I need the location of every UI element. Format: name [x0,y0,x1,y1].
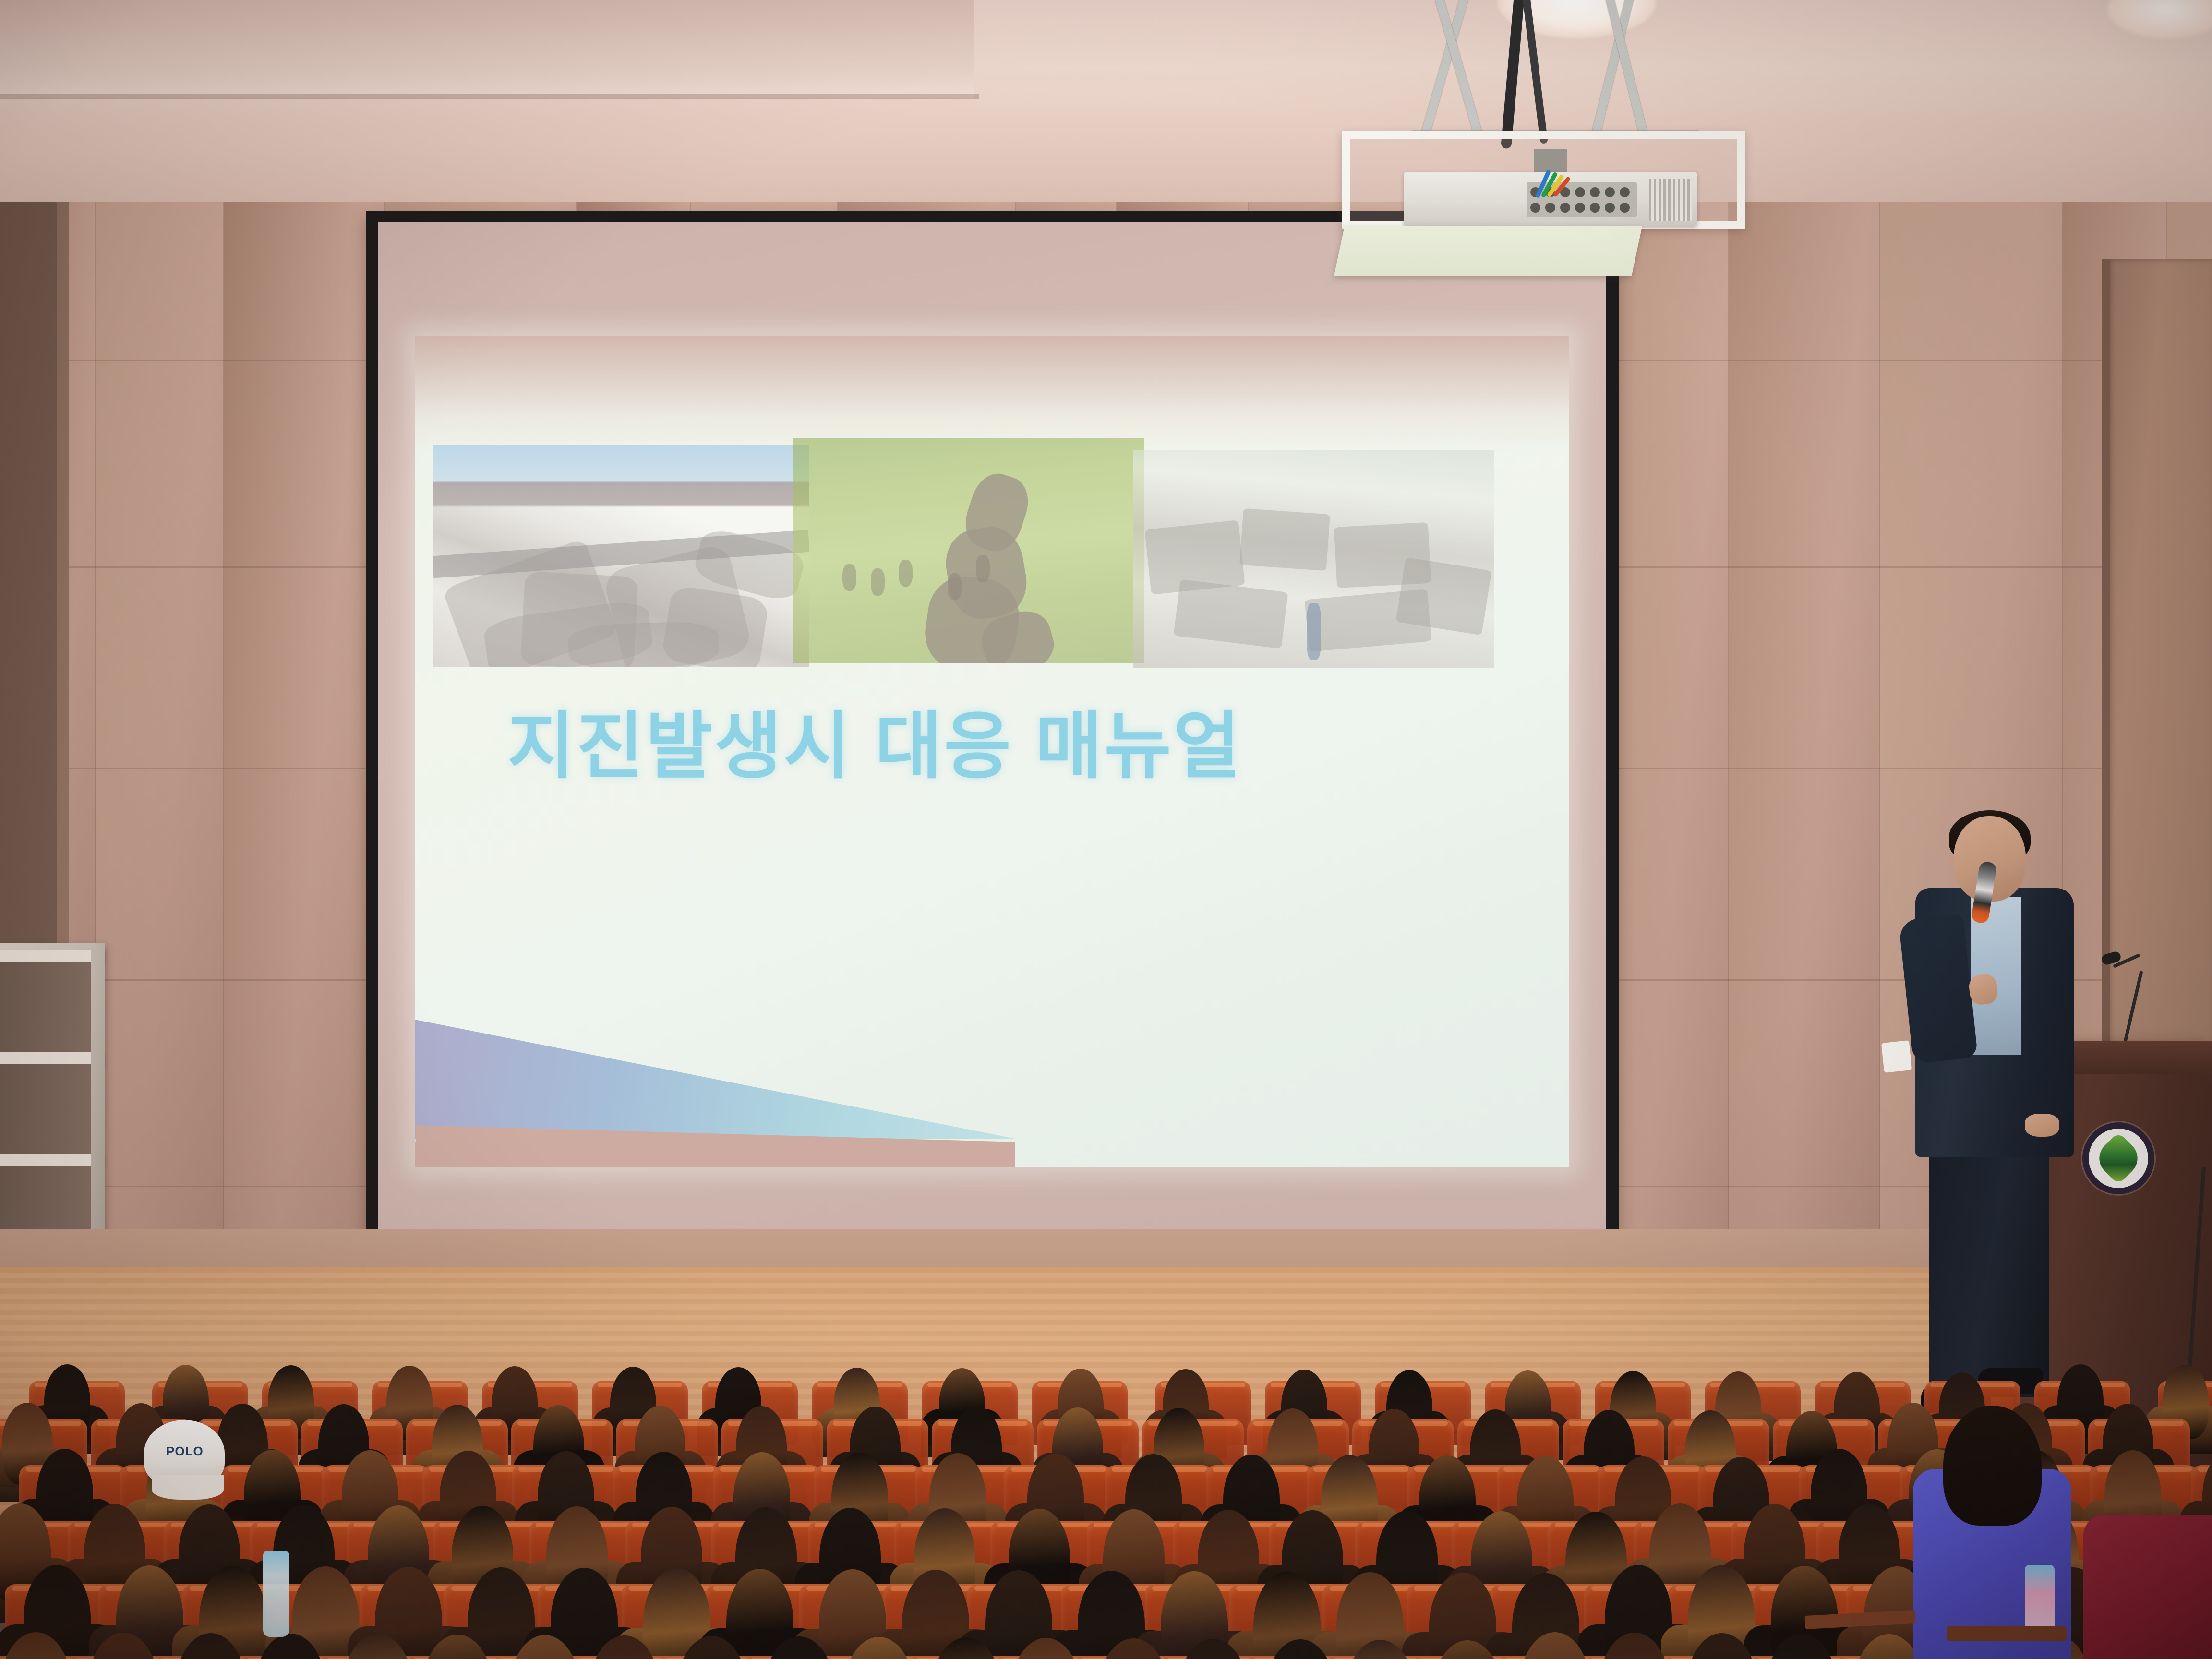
cap-brim [152,1475,224,1500]
shelf-plank-2 [0,1052,105,1064]
blue-jacket-head [1943,1406,2042,1526]
debris-1 [1240,508,1330,571]
slide-photo-band [433,448,1494,669]
photo-collapsed-buildings-rubble [433,445,809,667]
wall-switch-plate [1881,1040,1912,1073]
projector-port-7 [1530,203,1540,213]
debris-3 [1174,579,1288,649]
deco-triangle [415,984,1015,1145]
ceiling-edge-line [0,94,979,99]
projector-port-11 [1590,203,1600,213]
livestock-3 [948,573,962,600]
lecture-hall-photo: 지진발생시 대응 매뉴얼 [0,0,2212,1659]
projector-port-6 [1620,187,1630,197]
projector-port-12 [1605,203,1615,213]
red-top-attendee [2083,1515,2212,1659]
screen-surface: 지진발생시 대응 매뉴얼 [378,222,1606,1261]
projector-shroud-panel [1334,226,1642,276]
person-in-photo [1307,603,1321,660]
speaker-hand-on-lectern [2025,1114,2059,1137]
wall-panel [224,202,385,1387]
seated-audience: POLO [0,1325,2212,1659]
projector-port-10 [1575,203,1585,213]
livestock-4 [976,555,990,582]
slide-diagonal-decoration [415,984,1015,1167]
livestock-1 [871,568,885,595]
projector-port-3 [1575,187,1585,197]
university-emblem [2082,1122,2154,1194]
wall-panel [96,202,224,1387]
livestock-0 [842,564,856,591]
emblem-leaf-icon [2092,1132,2145,1185]
shelf-gap-2 [0,1064,105,1154]
speaker-hand [1968,973,1999,1006]
water-bottle [263,1551,289,1637]
shelf-plank-1 [0,950,105,962]
projection-falloff [415,336,1570,452]
projector-port-4 [1590,187,1600,197]
projected-slide: 지진발생시 대응 매뉴얼 [415,336,1570,1167]
photo-damaged-village-debris [1133,450,1494,668]
projector-port-9 [1560,203,1570,213]
armrest-right [1947,1626,2067,1641]
photo-ground-fissure-field [793,438,1144,663]
wall-panel [1729,202,1880,1387]
shelf-gap-1 [0,962,105,1052]
projector-port-13 [1620,203,1630,213]
projector-port-5 [1605,187,1615,197]
projector-vent-grille [1649,179,1692,221]
shelf-plank-3 [0,1154,105,1166]
deco-base-band [415,1142,1015,1167]
livestock-2 [899,560,913,587]
cap-logo-text: POLO [166,1444,204,1459]
slide-title: 지진발생시 대응 매뉴얼 [507,710,1477,783]
rubble-6 [567,620,720,667]
wall-panel [1611,202,1729,1387]
debris-5 [1396,557,1492,636]
projection-screen: 지진발생시 대응 매뉴얼 [366,211,1619,1273]
projector-scissor-lift [1382,0,1728,120]
projector-port-8 [1545,203,1555,213]
ceiling-soffit [0,0,974,98]
